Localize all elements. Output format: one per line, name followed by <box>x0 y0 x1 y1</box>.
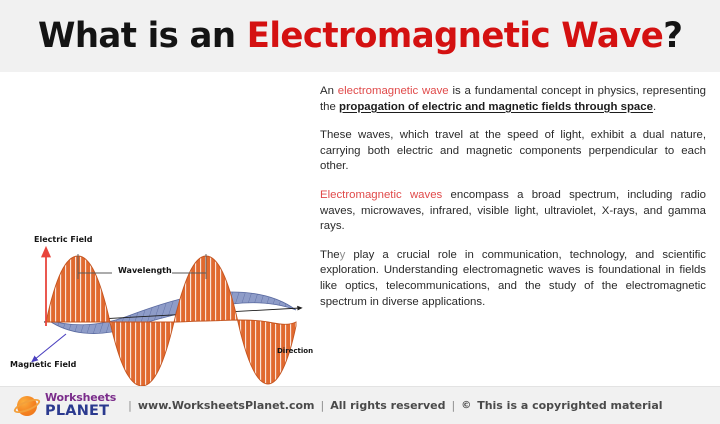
paragraph-1: An electromagnetic wave is a fundamental… <box>320 84 706 115</box>
paragraph-2: These waves, which travel at the speed o… <box>320 128 706 175</box>
direction-label: Direction <box>277 348 313 355</box>
description-text-column: An electromagnetic wave is a fundamental… <box>312 76 720 386</box>
text-run-normal: The <box>320 249 340 261</box>
title-segment-question-mark: ? <box>663 16 682 56</box>
electric-field-label: Electric Field <box>34 236 93 244</box>
footer-credits: | www.WorksheetsPlanet.com | All rights … <box>128 399 662 412</box>
footer-separator-1: | <box>128 399 132 412</box>
infographic-page: What is an Electromagnetic Wave? <box>0 0 720 424</box>
wavelength-label: Wavelength <box>118 267 172 275</box>
copyright-icon: © <box>461 400 471 411</box>
title-segment-highlight: Electromagnetic Wave <box>247 16 664 56</box>
footer-rights: All rights reserved <box>330 399 445 412</box>
footer-website[interactable]: www.WorksheetsPlanet.com <box>138 399 315 412</box>
text-run-normal: These waves, which travel at the speed o… <box>320 129 706 172</box>
paragraph-4: They play a crucial role in communicatio… <box>320 248 706 310</box>
worksheets-planet-logo[interactable]: Worksheets PLANET <box>14 392 116 419</box>
text-run-red: electromagnetic wave <box>338 85 449 97</box>
logo-line-planet: PLANET <box>45 404 116 419</box>
paragraph-3: Electromagnetic waves encompass a broad … <box>320 188 706 235</box>
logo-wordmark: Worksheets PLANET <box>45 392 116 419</box>
magnetic-field-label: Magnetic Field <box>10 361 76 369</box>
text-run-red: Electromagnetic waves <box>320 189 442 201</box>
text-run-normal: . <box>653 101 656 113</box>
electric-field-wave <box>46 256 296 386</box>
header-banner: What is an Electromagnetic Wave? <box>0 0 720 72</box>
text-run-normal: play a crucial role in communication, te… <box>320 249 706 308</box>
footer-separator-2: | <box>321 399 325 412</box>
text-run-bold-underline: propagation of electric and magnetic fie… <box>339 101 653 113</box>
magnetic-field-arrow <box>34 334 66 360</box>
text-run-normal: An <box>320 85 338 97</box>
footer-bar: Worksheets PLANET | www.WorksheetsPlanet… <box>0 386 720 424</box>
footer-separator-3: | <box>451 399 455 412</box>
electromagnetic-wave-diagram: Electric Field Magnetic Field Wavelength… <box>0 76 312 386</box>
wave-diagram-svg <box>0 76 312 390</box>
footer-copyright-text: This is a copyrighted material <box>477 399 662 412</box>
page-title: What is an Electromagnetic Wave? <box>38 19 682 54</box>
logo-line-worksheets: Worksheets <box>45 392 116 403</box>
planet-icon <box>14 393 40 419</box>
content-area: Electric Field Magnetic Field Wavelength… <box>0 72 720 386</box>
title-segment-prefix: What is an <box>38 16 247 56</box>
